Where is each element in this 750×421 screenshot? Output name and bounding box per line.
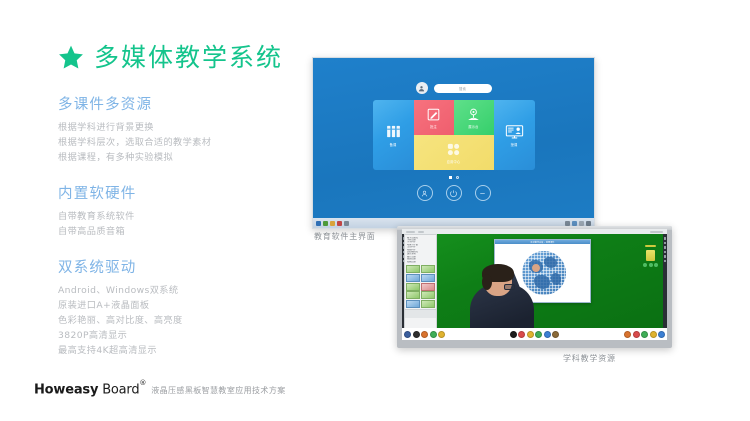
tool-button[interactable] [641, 331, 648, 338]
footer: Howeasy Board® 液晶压感黑板智慧教室应用技术方案 [34, 382, 286, 397]
continent-shape [551, 273, 561, 285]
launcher-screen: 搜索 备课 [312, 57, 595, 229]
tile-label: 应用中心 [447, 159, 461, 164]
feature-block-2: 内置软硬件 自带教育系统软件 自带高品质音箱 [58, 185, 308, 240]
feature-line: 自带教育系统软件 [58, 210, 308, 225]
tile-label: 授课 [511, 142, 518, 147]
resource-thumb[interactable] [421, 274, 435, 282]
trash-dot[interactable] [643, 263, 647, 267]
resource-panel-footer[interactable] [405, 309, 436, 318]
tool-button[interactable] [438, 331, 445, 338]
menubar-chip[interactable] [650, 231, 663, 233]
tile-label: 批注 [430, 124, 437, 129]
feature-lines: Android、Windows双系统 原装进口A+液晶面板 色彩艳丽、高对比度、… [58, 284, 308, 359]
feature-line: 色彩艳丽、高对比度、高亮度 [58, 314, 308, 329]
color-swatch[interactable] [552, 331, 559, 338]
footer-tagline: 液晶压感黑板智慧教室应用技术方案 [151, 385, 285, 396]
trash-dot[interactable] [649, 263, 653, 267]
tool-button[interactable] [624, 331, 631, 338]
color-swatch[interactable] [544, 331, 551, 338]
brand-product: Board [102, 382, 139, 397]
user-avatar-icon[interactable] [416, 82, 428, 94]
resource-thumb[interactable] [421, 265, 435, 273]
resource-thumb[interactable] [421, 283, 435, 291]
user-circle-icon[interactable] [417, 185, 433, 201]
resource-browser-panel[interactable]: 教学资源库 学科资源 小学科学 地球与宇宙 生命科学 物质科学 实验模拟库 课件… [404, 234, 437, 340]
smartboard-device: 教学资源库 学科资源 小学科学 地球与宇宙 生命科学 物质科学 实验模拟库 课件… [397, 226, 672, 348]
taskbar-icon[interactable] [316, 221, 321, 226]
registered-mark: ® [139, 379, 146, 387]
power-icon[interactable] [446, 185, 462, 201]
feature-line: 原装进口A+液晶面板 [58, 299, 308, 314]
brand-bold: How [34, 382, 65, 397]
launcher-actions [417, 185, 491, 201]
tool-button[interactable] [658, 331, 665, 338]
page-title: 多媒体教学系统 [94, 45, 283, 70]
brand-rest: easy [65, 382, 98, 397]
feature-line: 根据学科进行背景更换 [58, 121, 308, 136]
tree-item[interactable]: 动画资源 [407, 261, 434, 263]
slide-root: 多媒体教学系统 多课件多资源 根据学科进行背景更换 根据学科层次，选取合适的教学… [0, 0, 750, 421]
resource-thumb[interactable] [406, 291, 420, 299]
resource-thumb[interactable] [406, 274, 420, 282]
taskbar-icon[interactable] [330, 221, 335, 226]
trash-bin-icon[interactable] [646, 250, 655, 261]
feature-heading: 多课件多资源 [58, 96, 308, 114]
resource-thumb[interactable] [406, 283, 420, 291]
resource-thumb[interactable] [421, 300, 435, 308]
tool-button[interactable] [421, 331, 428, 338]
tool-button[interactable] [404, 331, 411, 338]
tray-icon[interactable] [586, 221, 591, 226]
taskbar-icon[interactable] [323, 221, 328, 226]
resource-thumb[interactable] [406, 265, 420, 273]
feature-line: 根据课程，有多种实验模拟 [58, 151, 308, 166]
taskbar-tray[interactable] [565, 221, 591, 226]
star-icon [58, 44, 84, 70]
tool-button[interactable] [633, 331, 640, 338]
feature-heading: 内置软硬件 [58, 185, 308, 203]
resource-thumb[interactable] [406, 300, 420, 308]
toolbar-left-group[interactable] [404, 331, 445, 338]
teacher-hand [532, 264, 540, 272]
feature-line: 自带高品质音箱 [58, 225, 308, 240]
trash-dot[interactable] [654, 263, 658, 267]
feature-lines: 根据学科进行背景更换 根据学科层次，选取合适的教学素材 根据课程，有多种实验模拟 [58, 121, 308, 166]
tool-button[interactable] [430, 331, 437, 338]
page-dot-1[interactable] [449, 176, 452, 179]
tray-icon[interactable] [572, 221, 577, 226]
brand-logo: Howeasy Board® [34, 382, 146, 397]
monitor-user-icon [505, 123, 524, 140]
toolbar-right-group[interactable] [624, 331, 665, 338]
camera-icon [466, 107, 481, 122]
rail-icon[interactable] [664, 251, 667, 254]
minus-circle-icon[interactable] [475, 185, 491, 201]
taskbar-icon[interactable] [344, 221, 349, 226]
tile-yingyongzhongxin[interactable]: 应用中心 [414, 135, 494, 170]
page-dot-2[interactable] [456, 176, 459, 179]
taskbar-quicklaunch[interactable] [316, 221, 349, 226]
tile-grid: 备课 批注 [373, 100, 535, 170]
rail-icon[interactable] [664, 255, 667, 258]
teacher-glasses [504, 284, 515, 290]
feature-line: 最高支持4K超高清显示 [58, 344, 308, 359]
feature-heading: 双系统驱动 [58, 259, 308, 277]
color-swatch[interactable] [510, 331, 517, 338]
tile-label: 备课 [390, 142, 397, 147]
tile-beike[interactable]: 备课 [373, 100, 414, 170]
board-menubar[interactable] [402, 229, 667, 234]
tool-button[interactable] [413, 331, 420, 338]
trash-dot-row[interactable] [643, 263, 658, 267]
rail-icon[interactable] [664, 242, 667, 245]
resource-thumb[interactable] [421, 291, 435, 299]
continent-shape [544, 257, 557, 268]
launcher-topbar: 搜索 [416, 82, 492, 94]
rail-icon[interactable] [664, 246, 667, 249]
search-input[interactable]: 搜索 [434, 84, 492, 93]
books-icon [385, 123, 402, 140]
menubar-chip[interactable] [406, 231, 415, 233]
trash-widget[interactable] [643, 245, 658, 267]
feature-line: 3820P高清显示 [58, 329, 308, 344]
caption-classroom: 学科教学资源 [563, 353, 616, 364]
trash-lid-icon [645, 245, 656, 247]
launcher-desktop: 搜索 备课 [313, 58, 594, 218]
pencil-note-icon [426, 107, 441, 122]
color-swatch[interactable] [518, 331, 525, 338]
feature-line: Android、Windows双系统 [58, 284, 308, 299]
teacher-hair-side [482, 274, 492, 290]
tray-icon[interactable] [565, 221, 570, 226]
page-indicator[interactable] [449, 176, 459, 179]
classroom-screenshot: 教学资源库 学科资源 小学科学 地球与宇宙 生命科学 物质科学 实验模拟库 课件… [397, 226, 672, 348]
feature-line: 根据学科层次，选取合适的教学素材 [58, 136, 308, 151]
tool-button[interactable] [650, 331, 657, 338]
page-title-row: 多媒体教学系统 [58, 44, 308, 70]
green-board-surface: 教学资源库 学科资源 小学科学 地球与宇宙 生命科学 物质科学 实验模拟库 课件… [402, 229, 667, 340]
apps-grid-icon [446, 142, 461, 157]
content-column: 多媒体教学系统 多课件多资源 根据学科进行背景更换 根据学科层次，选取合适的教学… [58, 44, 308, 377]
tile-pizhu[interactable]: 批注 [414, 100, 454, 135]
right-tool-rail[interactable] [663, 234, 667, 328]
resource-tree[interactable]: 教学资源库 学科资源 小学科学 地球与宇宙 生命科学 物质科学 实验模拟库 课件… [405, 235, 436, 264]
rail-icon[interactable] [664, 260, 667, 263]
color-swatch[interactable] [527, 331, 534, 338]
caption-launcher: 教育软件主界面 [314, 231, 376, 242]
rail-icon[interactable] [664, 237, 667, 240]
taskbar-icon[interactable] [337, 221, 342, 226]
tray-icon[interactable] [579, 221, 584, 226]
tile-zhanshitai[interactable]: 展示台 [454, 100, 494, 135]
tile-shouke[interactable]: 授课 [494, 100, 535, 170]
board-toolbar[interactable] [402, 328, 667, 340]
resource-thumbnails[interactable] [405, 265, 436, 307]
search-placeholder: 搜索 [459, 86, 466, 91]
color-swatch[interactable] [535, 331, 542, 338]
menubar-chip[interactable] [418, 231, 424, 233]
tile-label: 展示台 [468, 124, 478, 129]
launcher-screenshot: 搜索 备课 [312, 57, 595, 229]
toolbar-color-group[interactable] [510, 331, 560, 338]
feature-block-3: 双系统驱动 Android、Windows双系统 原装进口A+液晶面板 色彩艳丽… [58, 259, 308, 359]
feature-block-1: 多课件多资源 根据学科进行背景更换 根据学科层次，选取合适的教学素材 根据课程，… [58, 96, 308, 166]
feature-lines: 自带教育系统软件 自带高品质音箱 [58, 210, 308, 240]
